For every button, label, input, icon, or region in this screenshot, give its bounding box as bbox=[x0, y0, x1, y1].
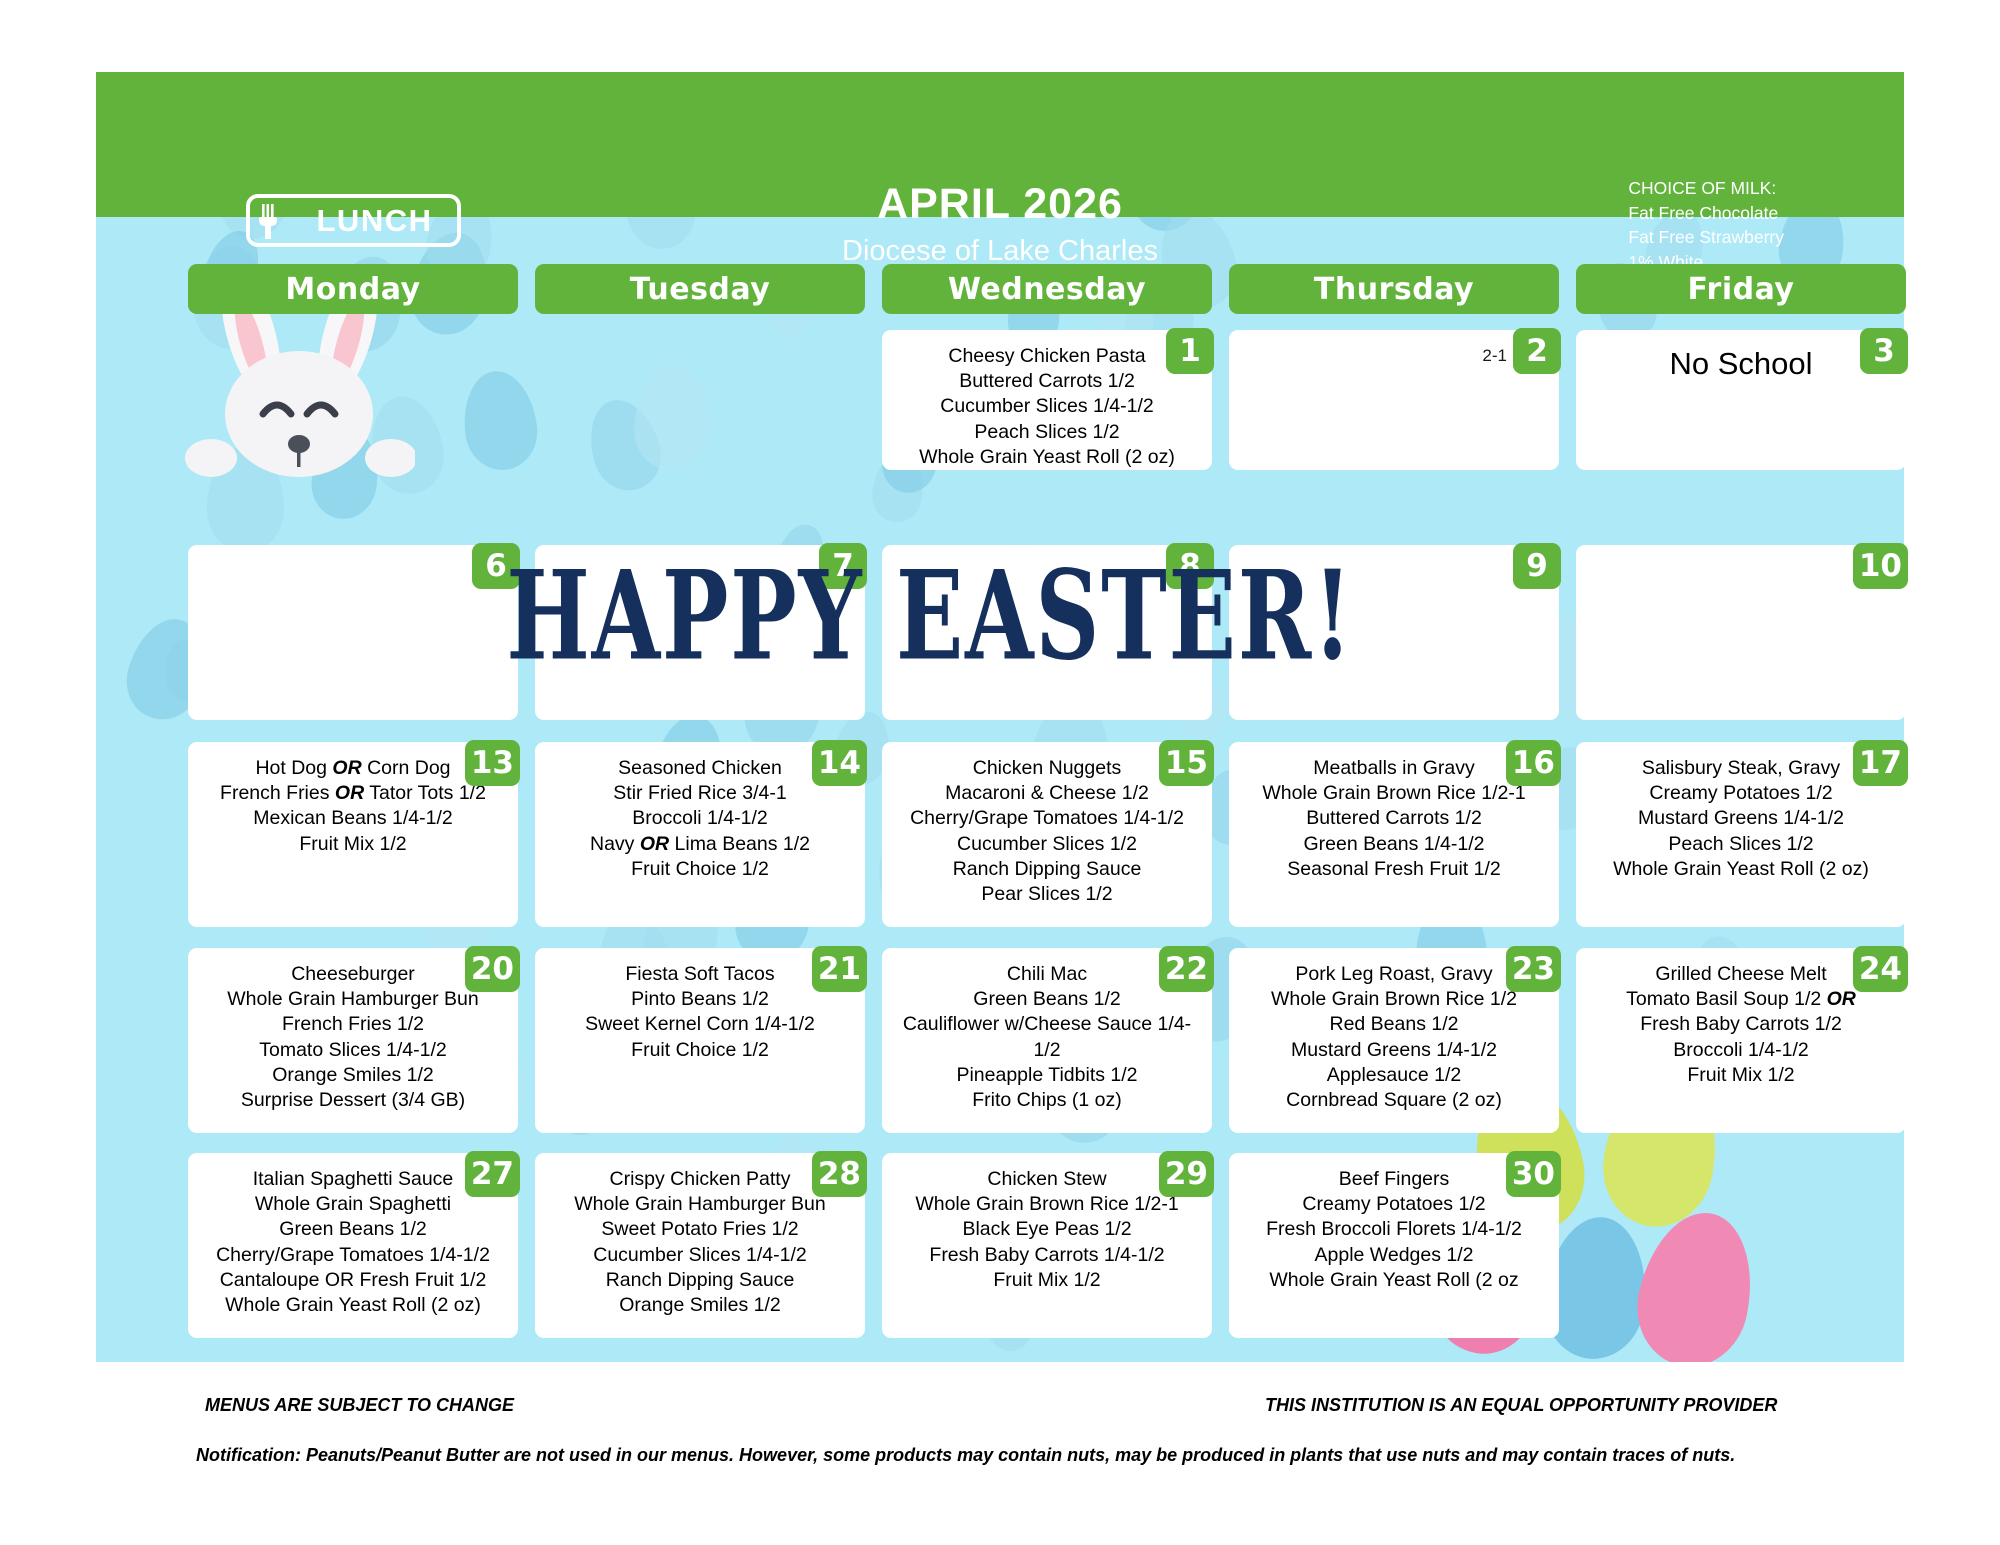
day-cell-10[interactable]: 10 bbox=[1576, 545, 1906, 720]
menu-item: Surprise Dessert (3/4 GB) bbox=[204, 1088, 502, 1113]
menu-item: Ranch Dipping Sauce bbox=[898, 857, 1196, 882]
menu-item: Chicken Nuggets bbox=[898, 756, 1196, 781]
day-cell-22[interactable]: Chili MacGreen Beans 1/2Cauliflower w/Ch… bbox=[882, 948, 1212, 1133]
menu-item: Frito Chips (1 oz) bbox=[898, 1088, 1196, 1113]
day-menu: Cheesy Chicken PastaButtered Carrots 1/2… bbox=[882, 330, 1212, 476]
weekday-header-thursday: Thursday bbox=[1229, 264, 1559, 314]
menu-item: Buttered Carrots 1/2 bbox=[898, 369, 1196, 394]
day-number-22: 22 bbox=[1159, 946, 1214, 992]
day-number-9: 9 bbox=[1513, 543, 1561, 589]
menu-item: Creamy Potatoes 1/2 bbox=[1245, 1192, 1543, 1217]
day-number-17: 17 bbox=[1853, 740, 1908, 786]
day-ghost-text: 2-1 bbox=[1482, 346, 1507, 366]
menu-item: Whole Grain Hamburger Bun bbox=[551, 1192, 849, 1217]
menu-item: Apple Wedges 1/2 bbox=[1245, 1243, 1543, 1268]
calendar-page: LUNCH APRIL 2026 Diocese of Lake Charles… bbox=[0, 0, 2000, 1545]
decorative-egg bbox=[458, 367, 542, 475]
decorative-egg-large bbox=[1626, 1202, 1766, 1362]
menu-item: Grilled Cheese Melt bbox=[1592, 962, 1890, 987]
menu-item: Applesauce 1/2 bbox=[1245, 1063, 1543, 1088]
day-number-14: 14 bbox=[812, 740, 867, 786]
menu-item: Fruit Choice 1/2 bbox=[551, 857, 849, 882]
menu-item: Pineapple Tidbits 1/2 bbox=[898, 1063, 1196, 1088]
menu-item: Orange Smiles 1/2 bbox=[551, 1293, 849, 1318]
menu-item: Chicken Stew bbox=[898, 1167, 1196, 1192]
day-cell-21[interactable]: Fiesta Soft TacosPinto Beans 1/2Sweet Ke… bbox=[535, 948, 865, 1133]
menu-item: Meatballs in Gravy bbox=[1245, 756, 1543, 781]
day-cell-8[interactable]: 8 bbox=[882, 545, 1212, 720]
day-menu bbox=[1229, 545, 1559, 565]
menu-item: Whole Grain Yeast Roll (2 oz) bbox=[1592, 857, 1890, 882]
menu-item: Macaroni & Cheese 1/2 bbox=[898, 781, 1196, 806]
weekday-header-monday: Monday bbox=[188, 264, 518, 314]
menu-item: Peach Slices 1/2 bbox=[898, 420, 1196, 445]
day-number-2: 2 bbox=[1513, 328, 1561, 374]
menu-item: Sweet Potato Fries 1/2 bbox=[551, 1217, 849, 1242]
day-menu: No School bbox=[1576, 330, 1906, 390]
menu-item: Tomato Basil Soup 1/2 OR bbox=[1592, 987, 1890, 1012]
day-cell-7[interactable]: 7 bbox=[535, 545, 865, 720]
day-number-28: 28 bbox=[812, 1151, 867, 1197]
menu-item: Cauliflower w/Cheese Sauce 1/4-1/2 bbox=[898, 1012, 1196, 1062]
footer-allergen-note: Notification: Peanuts/Peanut Butter are … bbox=[196, 1445, 2000, 1466]
weekday-header-tuesday: Tuesday bbox=[535, 264, 865, 314]
day-cell-15[interactable]: Chicken NuggetsMacaroni & Cheese 1/2Cher… bbox=[882, 742, 1212, 927]
day-cell-23[interactable]: Pork Leg Roast, GravyWhole Grain Brown R… bbox=[1229, 948, 1559, 1133]
menu-item: Ranch Dipping Sauce bbox=[551, 1268, 849, 1293]
day-number-8: 8 bbox=[1166, 543, 1214, 589]
menu-item: Fiesta Soft Tacos bbox=[551, 962, 849, 987]
menu-item: Whole Grain Spaghetti bbox=[204, 1192, 502, 1217]
day-number-13: 13 bbox=[465, 740, 520, 786]
day-number-1: 1 bbox=[1166, 328, 1214, 374]
menu-item: Cornbread Square (2 oz) bbox=[1245, 1088, 1543, 1113]
menu-item: Chili Mac bbox=[898, 962, 1196, 987]
day-cell-14[interactable]: Seasoned ChickenStir Fried Rice 3/4-1Bro… bbox=[535, 742, 865, 927]
footer-right-text: THIS INSTITUTION IS AN EQUAL OPPORTUNITY… bbox=[1265, 1395, 2000, 1416]
menu-item: Fruit Mix 1/2 bbox=[204, 832, 502, 857]
menu-item: Pinto Beans 1/2 bbox=[551, 987, 849, 1012]
day-cell-6[interactable]: 6 bbox=[188, 545, 518, 720]
day-number-24: 24 bbox=[1853, 946, 1908, 992]
milk-choices: CHOICE OF MILK: Fat Free Chocolate Fat F… bbox=[1628, 176, 1784, 274]
day-menu bbox=[882, 545, 1212, 565]
menu-item: Cucumber Slices 1/4-1/2 bbox=[551, 1243, 849, 1268]
menu-item: Red Beans 1/2 bbox=[1245, 1012, 1543, 1037]
menu-item: Green Beans 1/4-1/2 bbox=[1245, 832, 1543, 857]
day-cell-16[interactable]: Meatballs in GravyWhole Grain Brown Rice… bbox=[1229, 742, 1559, 927]
day-cell-9[interactable]: 9 bbox=[1229, 545, 1559, 720]
day-menu bbox=[188, 545, 518, 565]
menu-item: Whole Grain Yeast Roll (2 oz) bbox=[204, 1293, 502, 1318]
menu-item: Seasonal Fresh Fruit 1/2 bbox=[1245, 857, 1543, 882]
menu-item: Navy OR Lima Beans 1/2 bbox=[551, 832, 849, 857]
menu-item: Italian Spaghetti Sauce bbox=[204, 1167, 502, 1192]
menu-item: Cheeseburger bbox=[204, 962, 502, 987]
day-menu bbox=[1229, 330, 1559, 350]
menu-item: Sweet Kernel Corn 1/4-1/2 bbox=[551, 1012, 849, 1037]
menu-item: Cucumber Slices 1/4-1/2 bbox=[898, 394, 1196, 419]
day-cell-13[interactable]: Hot Dog OR Corn DogFrench Fries OR Tator… bbox=[188, 742, 518, 927]
menu-item: Seasoned Chicken bbox=[551, 756, 849, 781]
menu-item: Fresh Broccoli Florets 1/4-1/2 bbox=[1245, 1217, 1543, 1242]
menu-item: Black Eye Peas 1/2 bbox=[898, 1217, 1196, 1242]
menu-item: Cherry/Grape Tomatoes 1/4-1/2 bbox=[204, 1243, 502, 1268]
menu-item: Orange Smiles 1/2 bbox=[204, 1063, 502, 1088]
weekday-header-row: MondayTuesdayWednesdayThursdayFriday bbox=[0, 264, 2000, 314]
menu-item: Stir Fried Rice 3/4-1 bbox=[551, 781, 849, 806]
menu-item: Pear Slices 1/2 bbox=[898, 882, 1196, 907]
day-cell-29[interactable]: Chicken StewWhole Grain Brown Rice 1/2-1… bbox=[882, 1153, 1212, 1338]
menu-item: Beef Fingers bbox=[1245, 1167, 1543, 1192]
menu-item: Cantaloupe OR Fresh Fruit 1/2 bbox=[204, 1268, 502, 1293]
day-number-3: 3 bbox=[1860, 328, 1908, 374]
day-number-30: 30 bbox=[1506, 1151, 1561, 1197]
day-cell-20[interactable]: CheeseburgerWhole Grain Hamburger BunFre… bbox=[188, 948, 518, 1133]
day-number-10: 10 bbox=[1853, 543, 1908, 589]
menu-item: Creamy Potatoes 1/2 bbox=[1592, 781, 1890, 806]
milk-option: Fat Free Strawberry bbox=[1628, 225, 1784, 250]
menu-item: Peach Slices 1/2 bbox=[1592, 832, 1890, 857]
menu-item: Whole Grain Yeast Roll (2 oz bbox=[1245, 1268, 1543, 1293]
day-number-15: 15 bbox=[1159, 740, 1214, 786]
day-number-23: 23 bbox=[1506, 946, 1561, 992]
milk-option: Fat Free Chocolate bbox=[1628, 201, 1784, 226]
menu-item: Green Beans 1/2 bbox=[204, 1217, 502, 1242]
menu-item: Cherry/Grape Tomatoes 1/4-1/2 bbox=[898, 806, 1196, 831]
day-number-16: 16 bbox=[1506, 740, 1561, 786]
day-cell-3[interactable]: No School3 bbox=[1576, 330, 1906, 470]
menu-item: Whole Grain Brown Rice 1/2-1 bbox=[898, 1192, 1196, 1217]
menu-item: Broccoli 1/4-1/2 bbox=[551, 806, 849, 831]
menu-item: Whole Grain Yeast Roll (2 oz) bbox=[898, 445, 1196, 470]
menu-item: Fruit Mix 1/2 bbox=[1592, 1063, 1890, 1088]
menu-item: Crispy Chicken Patty bbox=[551, 1167, 849, 1192]
menu-item: French Fries OR Tator Tots 1/2 bbox=[204, 781, 502, 806]
menu-item: Whole Grain Hamburger Bun bbox=[204, 987, 502, 1012]
day-cell-27[interactable]: Italian Spaghetti SauceWhole Grain Spagh… bbox=[188, 1153, 518, 1338]
day-cell-2[interactable]: 2-12 bbox=[1229, 330, 1559, 470]
menu-item: Salisbury Steak, Gravy bbox=[1592, 756, 1890, 781]
menu-item: Green Beans 1/2 bbox=[898, 987, 1196, 1012]
day-menu bbox=[535, 545, 865, 565]
menu-item: Cheesy Chicken Pasta bbox=[898, 344, 1196, 369]
menu-item: Whole Grain Brown Rice 1/2 bbox=[1245, 987, 1543, 1012]
menu-item: Broccoli 1/4-1/2 bbox=[1592, 1038, 1890, 1063]
day-number-7: 7 bbox=[819, 543, 867, 589]
day-cell-28[interactable]: Crispy Chicken PattyWhole Grain Hamburge… bbox=[535, 1153, 865, 1338]
day-cell-1[interactable]: Cheesy Chicken PastaButtered Carrots 1/2… bbox=[882, 330, 1212, 470]
menu-item: French Fries 1/2 bbox=[204, 1012, 502, 1037]
day-cell-30[interactable]: Beef FingersCreamy Potatoes 1/2Fresh Bro… bbox=[1229, 1153, 1559, 1338]
menu-item: Mustard Greens 1/4-1/2 bbox=[1245, 1038, 1543, 1063]
menu-item: No School bbox=[1592, 344, 1890, 384]
menu-item: Cucumber Slices 1/2 bbox=[898, 832, 1196, 857]
menu-item: Whole Grain Brown Rice 1/2-1 bbox=[1245, 781, 1543, 806]
menu-item: Fruit Choice 1/2 bbox=[551, 1038, 849, 1063]
day-number-21: 21 bbox=[812, 946, 867, 992]
calendar-header: LUNCH APRIL 2026 Diocese of Lake Charles… bbox=[96, 72, 1904, 217]
weekday-header-wednesday: Wednesday bbox=[882, 264, 1212, 314]
menu-item: Buttered Carrots 1/2 bbox=[1245, 806, 1543, 831]
menu-item: Tomato Slices 1/4-1/2 bbox=[204, 1038, 502, 1063]
menu-item: Fresh Baby Carrots 1/4-1/2 bbox=[898, 1243, 1196, 1268]
menu-item: Fruit Mix 1/2 bbox=[898, 1268, 1196, 1293]
day-cell-24[interactable]: Grilled Cheese MeltTomato Basil Soup 1/2… bbox=[1576, 948, 1906, 1133]
day-number-29: 29 bbox=[1159, 1151, 1214, 1197]
menu-item: Pork Leg Roast, Gravy bbox=[1245, 962, 1543, 987]
weekday-header-friday: Friday bbox=[1576, 264, 1906, 314]
milk-title: CHOICE OF MILK: bbox=[1628, 176, 1784, 201]
day-number-27: 27 bbox=[465, 1151, 520, 1197]
decorative-egg bbox=[632, 364, 714, 473]
day-cell-17[interactable]: Salisbury Steak, GravyCreamy Potatoes 1/… bbox=[1576, 742, 1906, 927]
menu-item: Fresh Baby Carrots 1/2 bbox=[1592, 1012, 1890, 1037]
menu-item: Mustard Greens 1/4-1/2 bbox=[1592, 806, 1890, 831]
day-number-6: 6 bbox=[472, 543, 520, 589]
day-number-20: 20 bbox=[465, 946, 520, 992]
menu-item: Mexican Beans 1/4-1/2 bbox=[204, 806, 502, 831]
menu-item: Hot Dog OR Corn Dog bbox=[204, 756, 502, 781]
